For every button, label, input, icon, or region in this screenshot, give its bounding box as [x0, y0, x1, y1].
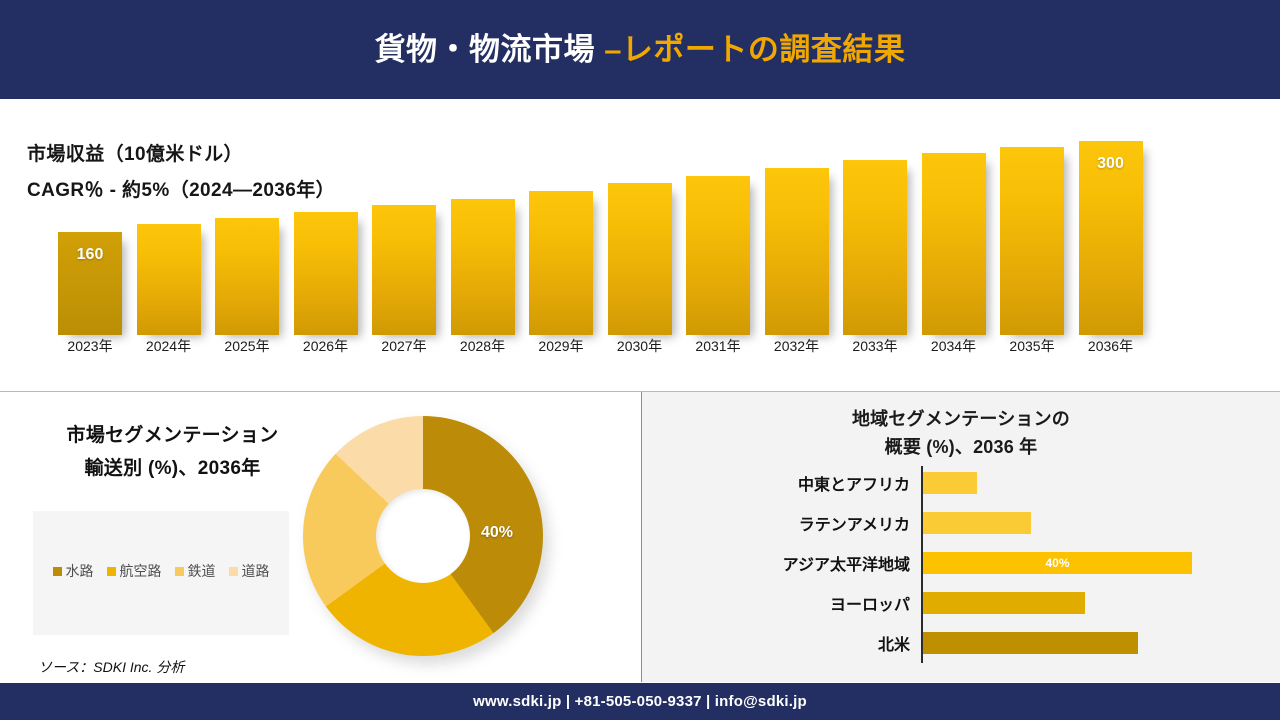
- region-title: 地域セグメンテーションの 概要 (%)、2036 年: [642, 406, 1280, 462]
- bar-shape: [1000, 147, 1064, 335]
- page-footer: www.sdki.jp | +81-505-050-9337 | info@sd…: [0, 683, 1280, 720]
- bar-shape: 160: [58, 232, 122, 335]
- region-bar-shape: [923, 472, 977, 494]
- region-bar-row: 北米: [642, 628, 1280, 658]
- bar-shape: [451, 199, 515, 335]
- donut-legend-item[interactable]: 鉄道: [175, 561, 216, 581]
- bar-shape: [294, 212, 358, 335]
- segmentation-donut-panel: 市場セグメンテーション 輸送別 (%)、2036年 水路航空路鉄道道路 40% …: [0, 392, 641, 682]
- source-note: ソース：SDKI Inc. 分析: [38, 657, 184, 677]
- region-category-label: 中東とアフリカ: [650, 471, 910, 495]
- bar-column: [294, 212, 358, 335]
- infographic-page: 貨物・物流市場 –レポートの調査結果 市場収益（10億米ドル） CAGR％ - …: [0, 0, 1280, 720]
- donut-legend-item[interactable]: 道路: [229, 561, 270, 581]
- bar-category-label: 2036年: [1061, 336, 1161, 356]
- donut-slice-label: 40%: [471, 524, 523, 542]
- region-category-label: アジア太平洋地域: [650, 551, 910, 575]
- region-bar-shape: [923, 592, 1085, 614]
- donut-legend: 水路航空路鉄道道路: [33, 561, 289, 581]
- donut-chart: 40%: [303, 416, 543, 656]
- donut-legend-item[interactable]: 水路: [53, 561, 94, 581]
- region-bar-shape: [923, 512, 1031, 534]
- legend-label: 道路: [242, 561, 270, 581]
- bar-column: [451, 199, 515, 335]
- bar-shape: [372, 205, 436, 335]
- region-category-label: ヨーロッパ: [650, 591, 910, 615]
- bar-column: [765, 168, 829, 335]
- bar-shape: [686, 176, 750, 335]
- bar-shape: [137, 224, 201, 335]
- bar-column: [1000, 147, 1064, 335]
- bar-shape: [529, 191, 593, 335]
- bar-column: [215, 218, 279, 335]
- donut-hole: [376, 489, 470, 583]
- region-bar-row: 中東とアフリカ: [642, 468, 1280, 498]
- bar-shape: [608, 183, 672, 335]
- region-bar-value-label: 40%: [923, 556, 1192, 570]
- revenue-bar-chart-panel: 市場収益（10億米ドル） CAGR％ - 約5%（2024―2036年） 160…: [0, 99, 1280, 392]
- region-bar-chart-panel: 地域セグメンテーションの 概要 (%)、2036 年 中東とアフリカラテンアメリ…: [641, 392, 1280, 682]
- legend-swatch-icon: [175, 567, 184, 576]
- bar-column: [529, 191, 593, 335]
- region-bar-row: アジア太平洋地域40%: [642, 548, 1280, 578]
- region-category-label: 北米: [650, 631, 910, 655]
- region-bar-row: ヨーロッパ: [642, 588, 1280, 618]
- bar-shape: [765, 168, 829, 335]
- page-title-accent: –レポートの調査結果: [604, 32, 905, 67]
- region-title-line1: 地域セグメンテーションの: [642, 406, 1280, 434]
- region-bar-shape: [923, 632, 1138, 654]
- bar-column: [922, 153, 986, 335]
- legend-label: 航空路: [120, 561, 162, 581]
- donut-legend-box: 水路航空路鉄道道路: [33, 511, 289, 635]
- bar-column: [608, 183, 672, 335]
- page-title: 貨物・物流市場 –レポートの調査結果: [375, 34, 906, 65]
- legend-swatch-icon: [53, 567, 62, 576]
- region-category-label: ラテンアメリカ: [650, 511, 910, 535]
- page-title-main: 貨物・物流市場: [375, 32, 605, 67]
- page-header: 貨物・物流市場 –レポートの調査結果: [0, 0, 1280, 99]
- vertical-bars-container: 1602023年2024年2025年2026年2027年2028年2029年20…: [0, 99, 1280, 392]
- bar-value-label: 160: [58, 246, 122, 264]
- donut-legend-item[interactable]: 航空路: [107, 561, 162, 581]
- legend-swatch-icon: [229, 567, 238, 576]
- bar-column: [843, 160, 907, 335]
- bar-value-label: 300: [1079, 155, 1143, 173]
- legend-label: 水路: [66, 561, 94, 581]
- region-title-line2: 概要 (%)、2036 年: [642, 434, 1280, 462]
- donut-title: 市場セグメンテーション 輸送別 (%)、2036年: [0, 419, 345, 486]
- bar-column: [137, 224, 201, 335]
- footer-contact: www.sdki.jp | +81-505-050-9337 | info@sd…: [473, 693, 807, 710]
- donut-title-line2: 輸送別 (%)、2036年: [0, 452, 345, 485]
- bar-column: 160: [58, 232, 122, 335]
- bar-column: 300: [1079, 141, 1143, 335]
- legend-swatch-icon: [107, 567, 116, 576]
- bar-column: [686, 176, 750, 335]
- bar-shape: [843, 160, 907, 335]
- bar-shape: 300: [1079, 141, 1143, 335]
- bar-shape: [215, 218, 279, 335]
- bar-column: [372, 205, 436, 335]
- legend-label: 鉄道: [188, 561, 216, 581]
- bar-shape: [922, 153, 986, 335]
- donut-title-line1: 市場セグメンテーション: [0, 419, 345, 452]
- region-bar-row: ラテンアメリカ: [642, 508, 1280, 538]
- region-bar-shape: 40%: [923, 552, 1192, 574]
